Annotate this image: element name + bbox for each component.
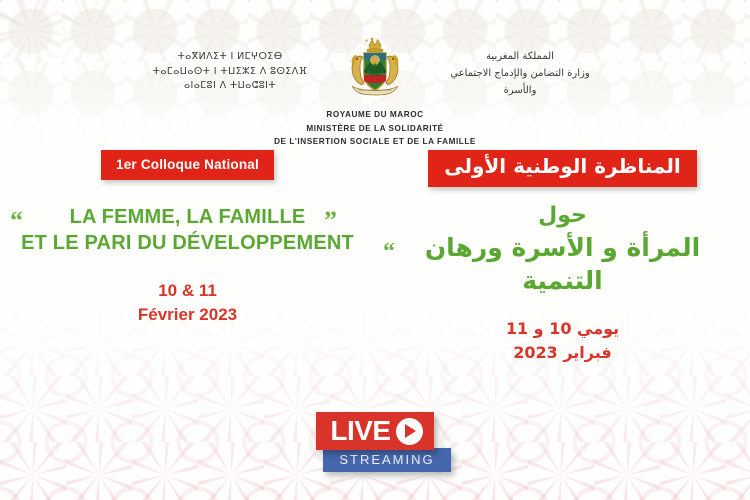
live-label: LIVE bbox=[330, 417, 390, 445]
live-streaming-badge[interactable]: LIVE STREAMING bbox=[0, 412, 750, 472]
french-date-line-2: Février 2023 bbox=[0, 303, 375, 327]
poster-canvas: ⵜⴰⴳⵍⴷⵉⵜ ⵏ ⵍⵎⵖⵔⵉⴱ ⵜⴰⵎⴰⵡⴰⵙⵜ ⵏ ⵜⵡⵉⵣⵉ ⴷ ⵓⵙⵉⴷ… bbox=[0, 0, 750, 500]
french-title-line-2: ET LE PARI DU DÉVELOPPEMENT bbox=[6, 230, 369, 256]
live-box[interactable]: LIVE bbox=[316, 412, 433, 450]
arabic-line-1: المملكة المغربية bbox=[420, 48, 620, 65]
arabic-preposition: حول bbox=[375, 203, 750, 228]
amazigh-line-1: ⵜⴰⴳⵍⴷⵉⵜ ⵏ ⵍⵎⵖⵔⵉⴱ bbox=[130, 50, 330, 65]
french-event-badge: 1er Colloque National bbox=[101, 150, 274, 180]
ministry-french-lines: ROYAUME DU MAROC MINISTÈRE DE LA SOLIDAR… bbox=[0, 108, 750, 149]
french-date-line-1: 10 & 11 bbox=[0, 279, 375, 303]
arabic-title: المرأة و الأسرة ورهان التنمية bbox=[383, 232, 742, 297]
arabic-event-badge: المناظرة الوطنية الأولى bbox=[428, 150, 697, 187]
arabic-line-2: وزارة التضامن والإدماج الاجتماعي bbox=[420, 65, 620, 82]
amazigh-line-3: ⴰⵏⴰⵎⵓⵏ ⴷ ⵜⵡⴰⵛⵓⵏⵜ bbox=[130, 79, 330, 94]
ministry-line-1: ROYAUME DU MAROC bbox=[0, 108, 750, 122]
arabic-column: المناظرة الوطنية الأولى حول “ المرأة و ا… bbox=[375, 150, 750, 365]
arabic-ministry-text: المملكة المغربية وزارة التضامن والإدماج … bbox=[420, 34, 620, 99]
amazigh-line-2: ⵜⴰⵎⴰⵡⴰⵙⵜ ⵏ ⵜⵡⵉⵣⵉ ⴷ ⵓⵙⵉⴷⴼ bbox=[130, 65, 330, 80]
amazigh-ministry-text: ⵜⴰⴳⵍⴷⵉⵜ ⵏ ⵍⵎⵖⵔⵉⴱ ⵜⴰⵎⴰⵡⴰⵙⵜ ⵏ ⵜⵡⵉⵣⵉ ⴷ ⵓⵙⵉⴷ… bbox=[130, 34, 330, 94]
quote-open-icon-fr: “ bbox=[10, 208, 23, 234]
french-column: 1er Colloque National “ ” LA FEMME, LA F… bbox=[0, 150, 375, 365]
french-title-line-1: LA FEMME, LA FAMILLE bbox=[6, 204, 369, 230]
institutional-header: ⵜⴰⴳⵍⴷⵉⵜ ⵏ ⵍⵎⵖⵔⵉⴱ ⵜⴰⵎⴰⵡⴰⵙⵜ ⵏ ⵜⵡⵉⵣⵉ ⴷ ⵓⵙⵉⴷ… bbox=[0, 34, 750, 149]
arabic-date-line-2: فبراير 2023 bbox=[375, 341, 750, 365]
header-row: ⵜⴰⴳⵍⴷⵉⵜ ⵏ ⵍⵎⵖⵔⵉⴱ ⵜⴰⵎⴰⵡⴰⵙⵜ ⵏ ⵜⵡⵉⵣⵉ ⴷ ⵓⵙⵉⴷ… bbox=[0, 34, 750, 106]
arabic-title-block: “ المرأة و الأسرة ورهان التنمية bbox=[375, 232, 750, 297]
streaming-label: STREAMING bbox=[323, 448, 450, 472]
quote-close-icon-fr: ” bbox=[324, 208, 337, 234]
morocco-coat-of-arms-icon bbox=[338, 34, 412, 106]
arabic-date-line-1: يومي 10 و 11 bbox=[375, 317, 750, 341]
french-date-block: 10 & 11 Février 2023 bbox=[0, 279, 375, 327]
play-icon[interactable] bbox=[396, 418, 423, 445]
arabic-date-block: يومي 10 و 11 فبراير 2023 bbox=[375, 317, 750, 365]
french-title-block: “ ” LA FEMME, LA FAMILLE ET LE PARI DU D… bbox=[0, 204, 375, 257]
ministry-line-2: MINISTÈRE DE LA SOLIDARITÉ bbox=[0, 122, 750, 136]
arabic-line-3: والأسرة bbox=[420, 82, 620, 99]
bilingual-columns: 1er Colloque National “ ” LA FEMME, LA F… bbox=[0, 150, 750, 365]
ministry-line-3: DE L'INSERTION SOCIALE ET DE LA FAMILLE bbox=[0, 135, 750, 149]
play-triangle bbox=[405, 424, 416, 438]
quote-open-icon-ar: “ bbox=[383, 240, 395, 264]
